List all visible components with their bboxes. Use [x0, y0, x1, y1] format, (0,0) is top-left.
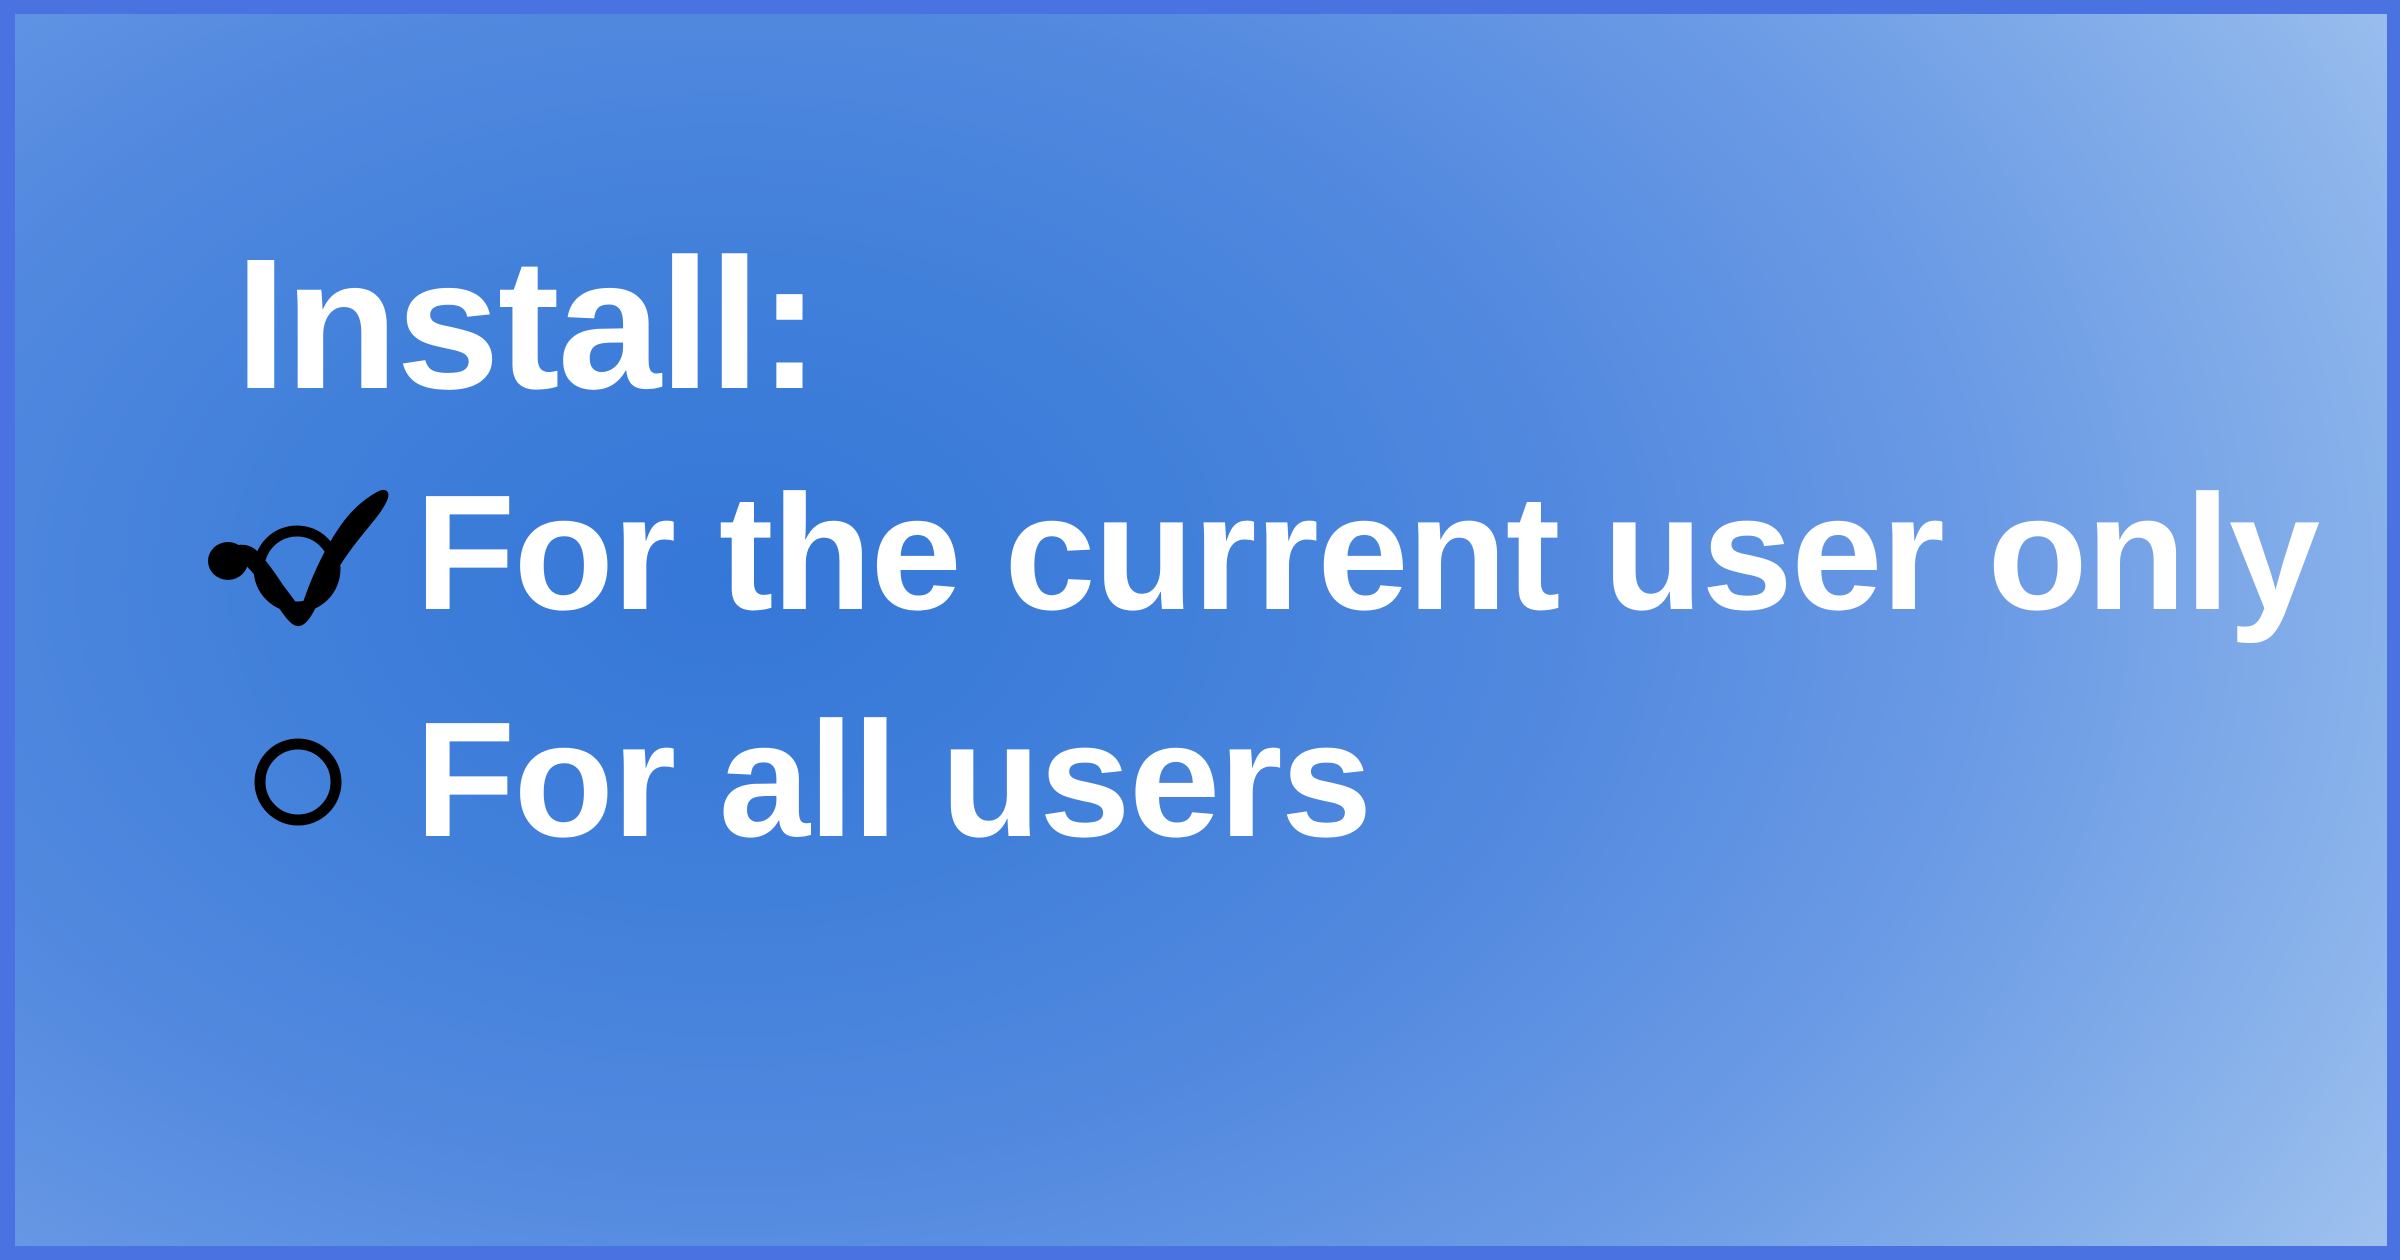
slide-background: Install: For the current user only: [15, 14, 2387, 1246]
slide-content: Install: For the current user only: [15, 14, 2387, 1246]
install-option-label: For the current user only: [415, 471, 2319, 635]
checked-circle-icon[interactable]: [185, 469, 415, 644]
page-title: Install:: [235, 232, 818, 418]
install-option-all-users[interactable]: For all users: [185, 694, 1371, 869]
install-option-current-user[interactable]: For the current user only: [185, 469, 2319, 644]
empty-circle-icon[interactable]: [185, 694, 415, 869]
install-options-slide: Install: For the current user only: [0, 0, 2400, 1260]
install-option-label: For all users: [415, 698, 1371, 862]
